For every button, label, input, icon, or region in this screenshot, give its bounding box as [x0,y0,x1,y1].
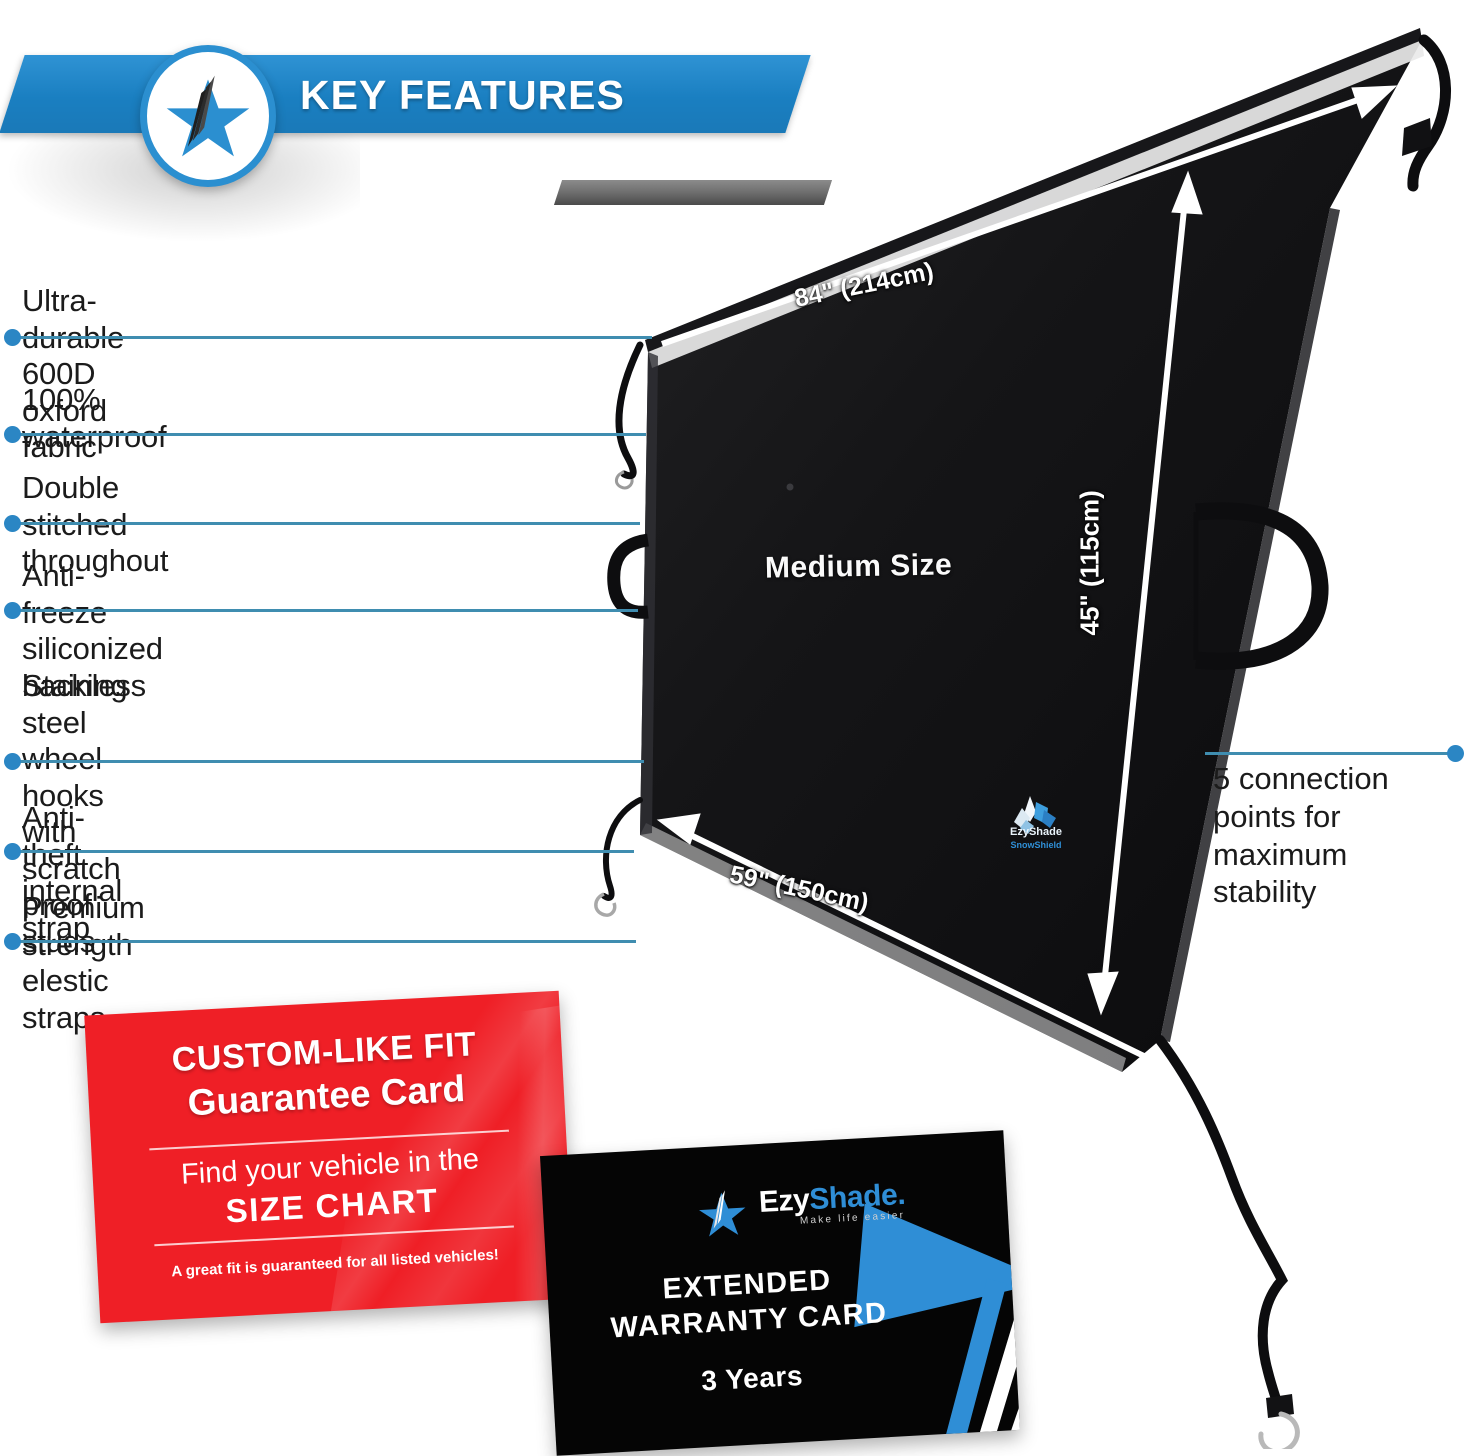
elastic-strap-left-lower [596,800,640,915]
feature-leader-dot [4,753,21,770]
brand-ezy: Ezy [758,1183,810,1219]
feature-leader-line [16,433,646,436]
feature-leader-dot [4,426,21,443]
elastic-strap-bottom-right [1160,1040,1297,1449]
feature-leader-line [16,522,640,525]
strap-loop-left [614,540,648,612]
dimension-label-right: 45" (115cm) [1075,490,1106,635]
callout-leader-line [1205,752,1453,755]
infographic-canvas: 84" (214cm) 59" (150cm) 45" (115cm) Medi… [0,0,1471,1449]
product-logo-line1: EzyShade [1000,826,1072,838]
feature-leader-line [16,760,644,763]
feature-leader-dot [4,933,21,950]
elastic-strap-left-upper [616,345,640,488]
dimension-label-bottom: 59" (150cm) [727,860,871,918]
feature-leader-line [16,940,636,943]
feature-leader-line [16,850,634,853]
feature-leader-dot [4,602,21,619]
dimension-label-top: 84" (214cm) [792,257,936,314]
feature-leader-dot [4,515,21,532]
warranty-card[interactable]: EzyShade. Make life easier EXTENDED WARR… [540,1130,1020,1455]
feature-leader-dot [4,329,21,346]
banner-gray-accent [554,180,832,205]
star-logo-icon [160,68,256,164]
callout-label: 5 connection points for maximum stabilit… [1213,760,1463,911]
star-logo-icon [690,1184,755,1241]
guarantee-card[interactable]: CUSTOM-LIKE FIT Guarantee Card Find your… [84,991,574,1323]
feature-leader-line [16,609,638,612]
brand-badge [140,45,276,187]
feature-label-waterproof: 100% waterproof [22,382,166,455]
page-title: KEY FEATURES [300,56,770,134]
corner-strap-top-right [1402,40,1446,186]
size-label: Medium Size [765,548,953,585]
product-logo-line2: SnowShield [1000,840,1072,850]
feature-leader-dot [4,843,21,860]
strap-loop-right [1196,511,1320,661]
feature-leader-line [16,336,652,339]
warranty-card-duration: 3 Years [552,1352,952,1406]
product-brand-logo: EzyShade SnowShield [1000,792,1072,854]
